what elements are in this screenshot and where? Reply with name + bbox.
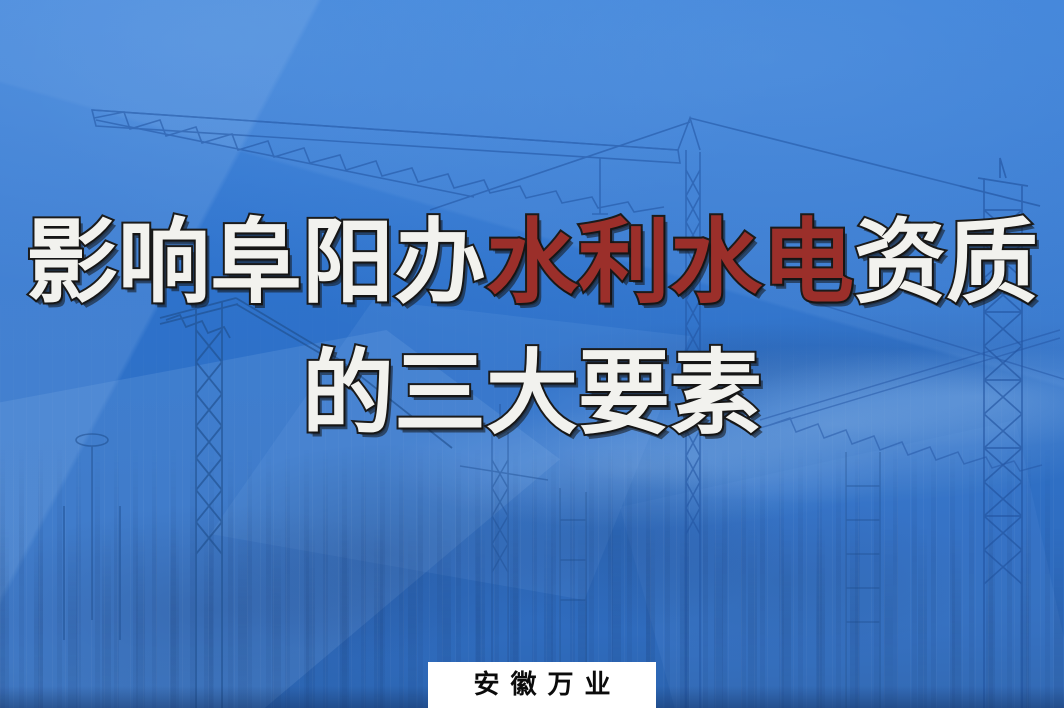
promotional-banner: 影响阜阳办水利水电资质 的三大要素 安徽万业 (0, 0, 1064, 708)
title-line-2: 的三大要素 (0, 329, 1064, 460)
title-line-2-segment-1: 的三大要素 (302, 340, 762, 447)
title-line-1: 影响阜阳办水利水电资质 (0, 198, 1064, 329)
title-line-1-highlight: 水利水电 (486, 209, 854, 316)
title-line-1-segment-1: 影响阜阳办 (26, 209, 486, 316)
title-block: 影响阜阳办水利水电资质 的三大要素 (0, 198, 1064, 459)
title-line-1-segment-3: 资质 (854, 209, 1038, 316)
company-badge: 安徽万业 (428, 662, 656, 708)
company-badge-label: 安徽万业 (462, 672, 621, 698)
